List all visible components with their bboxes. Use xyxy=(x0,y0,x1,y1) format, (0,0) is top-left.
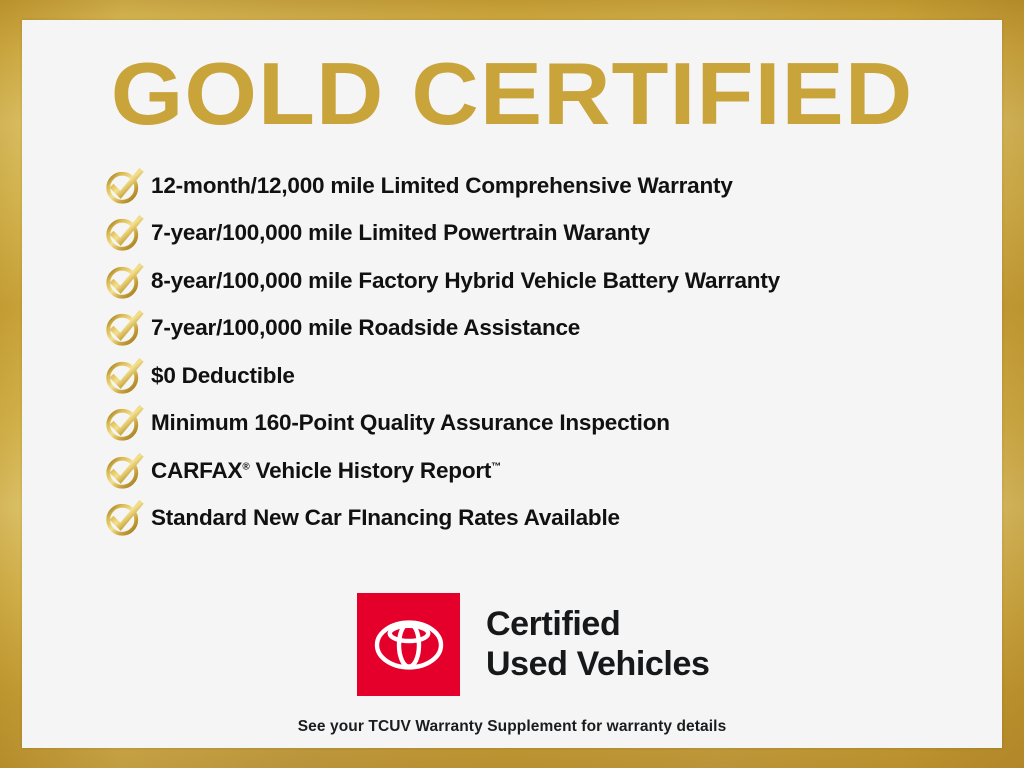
lockup-line-1: Certified xyxy=(486,605,710,645)
trademark-mark: ™ xyxy=(491,461,501,472)
benefits-list: 12-month/12,000 mile Limited Comprehensi… xyxy=(97,162,997,542)
list-item-label: Standard New Car FInancing Rates Availab… xyxy=(151,505,620,531)
list-item-label-carfax: CARFAX® Vehicle History Report™ xyxy=(151,458,501,484)
certificate-card: GOLD CERTIFIED xyxy=(22,20,1002,748)
list-item: 12-month/12,000 mile Limited Comprehensi… xyxy=(97,162,997,210)
carfax-wordmark: CARFAX xyxy=(151,458,242,483)
lockup-line-2: Used Vehicles xyxy=(486,645,710,685)
gold-check-circle-icon xyxy=(97,165,151,207)
gold-check-circle-icon xyxy=(97,450,151,492)
gold-check-circle-icon xyxy=(97,355,151,397)
list-item: 8-year/100,000 mile Factory Hybrid Vehic… xyxy=(97,257,997,305)
gold-check-circle-icon xyxy=(97,212,151,254)
list-item-label: 7-year/100,000 mile Roadside Assistance xyxy=(151,315,580,341)
footer-disclaimer: See your TCUV Warranty Supplement for wa… xyxy=(22,718,1002,736)
list-item-label: 12-month/12,000 mile Limited Comprehensi… xyxy=(151,173,733,199)
list-item: Standard New Car FInancing Rates Availab… xyxy=(97,495,997,543)
list-item: 7-year/100,000 mile Roadside Assistance xyxy=(97,305,997,353)
list-item-label: Minimum 160-Point Quality Assurance Insp… xyxy=(151,410,670,436)
lockup-text: Certified Used Vehicles xyxy=(486,605,710,685)
gold-check-circle-icon xyxy=(97,402,151,444)
list-item: CARFAX® Vehicle History Report™ xyxy=(97,447,997,495)
list-item-label: $0 Deductible xyxy=(151,363,295,389)
toyota-certified-used-vehicles-logo: Certified Used Vehicles xyxy=(357,593,710,696)
list-item-label: 7-year/100,000 mile Limited Powertrain W… xyxy=(151,220,650,246)
toyota-emblem-icon xyxy=(369,605,449,685)
gold-certified-certificate: GOLD CERTIFIED xyxy=(0,0,1024,768)
gold-check-circle-icon xyxy=(97,260,151,302)
gold-check-circle-icon xyxy=(97,497,151,539)
gold-check-circle-icon xyxy=(97,307,151,349)
list-item: 7-year/100,000 mile Limited Powertrain W… xyxy=(97,210,997,258)
toyota-logo-tile xyxy=(357,593,460,696)
carfax-report-label: Vehicle History Report xyxy=(249,458,491,483)
list-item: $0 Deductible xyxy=(97,352,997,400)
list-item: Minimum 160-Point Quality Assurance Insp… xyxy=(97,400,997,448)
page-title: GOLD CERTIFIED xyxy=(22,50,1002,138)
list-item-label: 8-year/100,000 mile Factory Hybrid Vehic… xyxy=(151,268,780,294)
